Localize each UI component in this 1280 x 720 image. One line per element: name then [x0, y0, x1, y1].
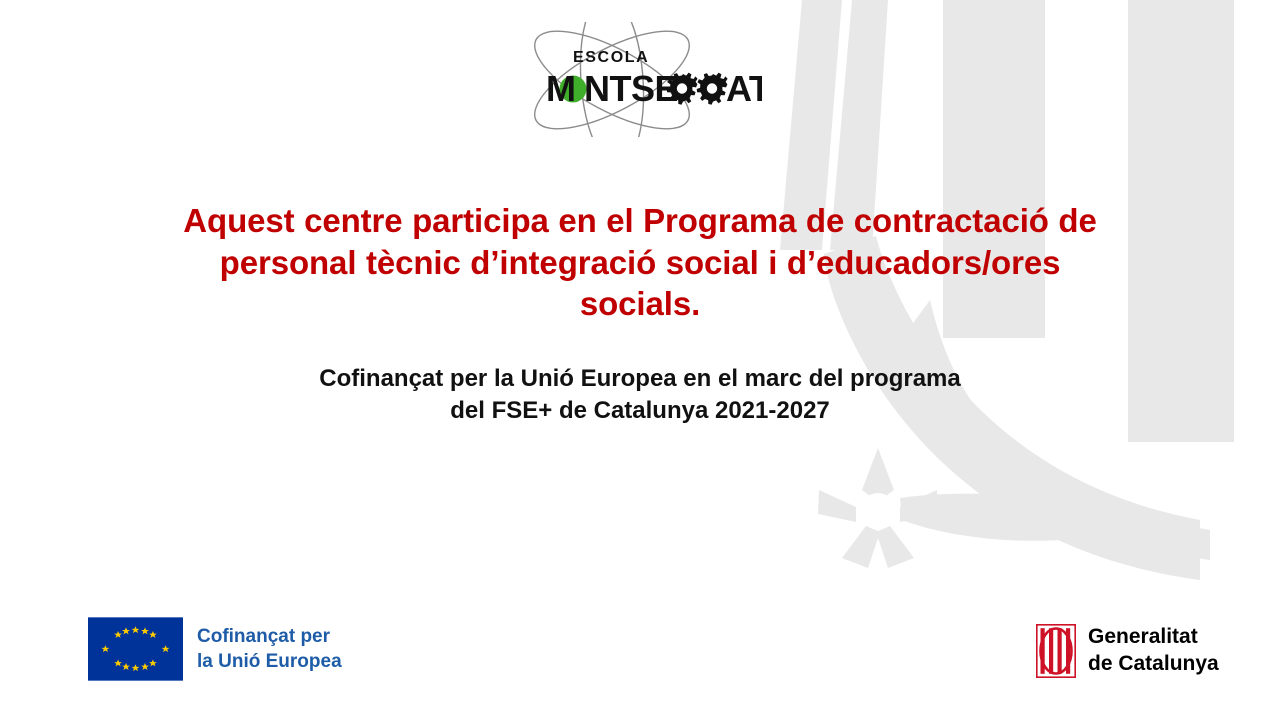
- eu-cofunding-logo: Cofinançat per la Unió Europea: [88, 617, 342, 681]
- main-heading-line-3: socials.: [128, 283, 1152, 325]
- poster-canvas: ESCOLA M NTSE AT Aquest centre participa…: [0, 0, 1280, 720]
- eu-logo-line-1: Cofinançat per: [197, 624, 342, 649]
- funding-subtitle-text: Cofinançat per la Unió Europea en el mar…: [128, 363, 1152, 427]
- logo-montse-mid: NTSE: [584, 68, 678, 109]
- gencat-logo-line-1: Generalitat: [1088, 624, 1219, 651]
- eu-flag-icon: [88, 617, 183, 681]
- escola-montserrat-logo: ESCOLA M NTSE AT: [500, 22, 762, 137]
- eu-logo-line-2: la Unió Europea: [197, 649, 342, 674]
- senyera-emblem-icon: [1036, 624, 1076, 678]
- gencat-logo-text: Generalitat de Catalunya: [1088, 624, 1219, 678]
- funding-subtitle: Cofinançat per la Unió Europea en el mar…: [128, 363, 1152, 427]
- funding-subtitle-line-1: Cofinançat per la Unió Europea en el mar…: [128, 363, 1152, 395]
- logo-montse-suffix: AT: [726, 68, 762, 109]
- generalitat-de-catalunya-logo: Generalitat de Catalunya: [1036, 624, 1219, 678]
- gencat-logo-line-2: de Catalunya: [1088, 651, 1219, 678]
- gear-icon-right: [697, 73, 728, 105]
- main-heading-text: Aquest centre participa en el Programa d…: [128, 200, 1152, 325]
- logo-montse-prefix: M: [546, 68, 576, 109]
- funding-subtitle-line-2: del FSE+ de Catalunya 2021-2027: [128, 395, 1152, 427]
- main-heading-line-2: personal tècnic d’integració social i d’…: [128, 242, 1152, 284]
- main-heading-line-1: Aquest centre participa en el Programa d…: [128, 200, 1152, 242]
- main-heading: Aquest centre participa en el Programa d…: [128, 200, 1152, 325]
- logo-escola-word: ESCOLA: [573, 49, 649, 66]
- eu-logo-text: Cofinançat per la Unió Europea: [197, 624, 342, 674]
